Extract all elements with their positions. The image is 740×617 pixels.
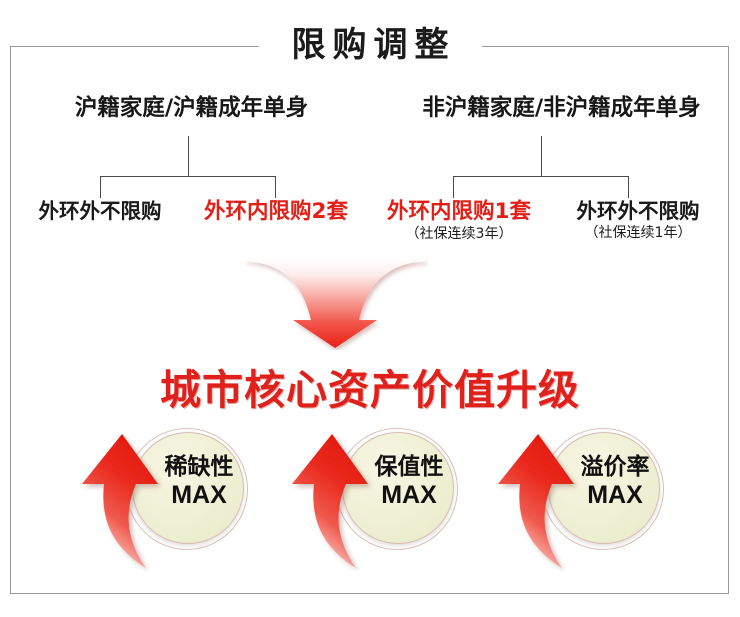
badge-scarcity: 稀缺性 MAX (76, 428, 266, 573)
badge-caption: 溢价率 MAX (554, 454, 676, 510)
connector-tree-local (100, 136, 276, 200)
tree-bar (100, 176, 276, 177)
policy-item-4-note: （社保连续1年） (548, 226, 728, 242)
badge-label-max: MAX (554, 481, 676, 510)
tree-leg-left (100, 176, 101, 198)
policy-item-4: 外环外不限购 （社保连续1年） (548, 200, 728, 242)
badge-label-max: MAX (348, 481, 470, 510)
badge-label-cn: 保值性 (348, 454, 470, 480)
badge-row: 稀缺性 MAX (0, 428, 740, 573)
connector-tree-nonlocal (453, 136, 629, 200)
tree-stem (541, 136, 542, 176)
badge-premium-rate: 溢价率 MAX (492, 428, 682, 573)
badge-caption: 保值性 MAX (348, 454, 470, 510)
funnel-down-arrow-icon (243, 258, 428, 350)
headline-text: 城市核心资产价值升级 (0, 356, 740, 416)
group-header-local: 沪籍家庭/沪籍成年单身 (0, 95, 383, 122)
policy-item-1-text: 外环外不限购 (10, 200, 190, 223)
policy-item-3-note: （社保连续3年） (369, 227, 549, 243)
tree-bar (453, 176, 629, 177)
tree-stem (188, 136, 189, 176)
policy-item-4-text: 外环外不限购 (548, 200, 728, 223)
policy-item-2-text: 外环内限购2套 (186, 200, 366, 224)
badge-label-cn: 溢价率 (554, 454, 676, 480)
policy-item-3: 外环内限购1套 （社保连续3年） (369, 200, 549, 243)
group-header-nonlocal: 非沪籍家庭/非沪籍成年单身 (383, 95, 740, 122)
policy-item-1: 外环外不限购 (10, 200, 190, 226)
badge-value-retention: 保值性 MAX (286, 428, 476, 573)
badge-caption: 稀缺性 MAX (138, 454, 260, 510)
badge-label-max: MAX (138, 481, 260, 510)
tree-leg-right (628, 176, 629, 198)
tree-leg-left (453, 176, 454, 198)
policy-item-3-text: 外环内限购1套 (369, 200, 549, 224)
badge-label-cn: 稀缺性 (138, 454, 260, 480)
policy-item-2: 外环内限购2套 (186, 200, 366, 227)
tree-leg-right (275, 176, 276, 198)
